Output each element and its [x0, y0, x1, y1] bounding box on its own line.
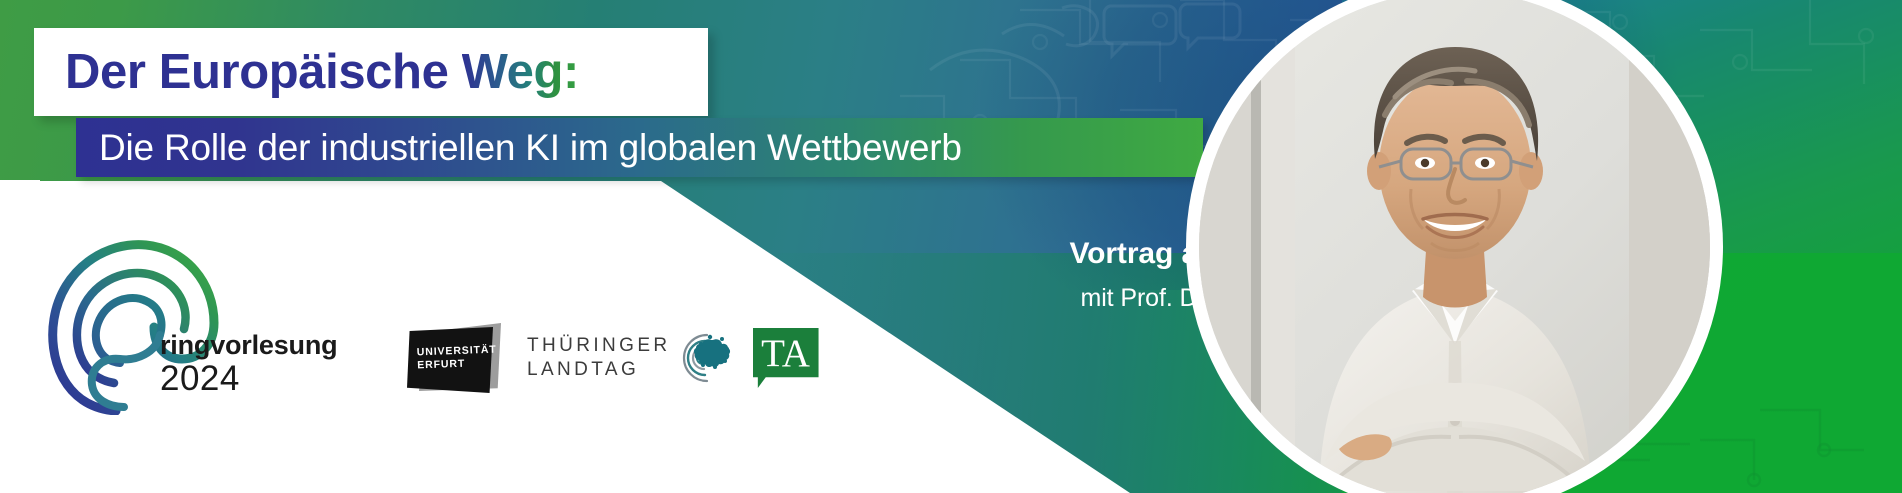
avatar: [1199, 0, 1710, 493]
series-year: 2024: [160, 361, 337, 396]
partner-logo-thueringer-landtag[interactable]: THÜRINGER LANDTAG: [527, 331, 731, 385]
landtag-line2: LANDTAG: [527, 358, 671, 382]
partner-logos: UNIVERSITÄT ERFURT THÜRINGER LANDTAG: [405, 318, 819, 398]
uni-erfurt-line2: ERFURT: [417, 357, 497, 373]
lion-emblem-icon: [677, 331, 731, 385]
series-name: ringvorlesung: [160, 332, 337, 359]
page-title: Der Europäische Weg:: [65, 48, 579, 97]
portrait-frame: [1186, 0, 1723, 493]
subtitle-text: Die Rolle der industriellen KI im global…: [99, 129, 962, 166]
landtag-line1: THÜRINGER: [527, 334, 671, 358]
landtag-wordmark: THÜRINGER LANDTAG: [527, 334, 671, 382]
uni-erfurt-wordmark: UNIVERSITÄT ERFURT: [417, 344, 498, 373]
series-logo-text: ringvorlesung 2024: [160, 332, 337, 396]
event-banner: Der Europäische Weg: Die Rolle der indus…: [0, 0, 1902, 493]
partner-logo-thueringer-allgemeine[interactable]: TA: [753, 328, 819, 388]
portrait-antonio-krueger: [1199, 0, 1710, 493]
title-part-one: Der Europäische: [65, 45, 462, 99]
ta-letters: TA: [753, 334, 819, 373]
title-box: Der Europäische Weg:: [34, 28, 708, 116]
title-part-two: Weg:: [462, 45, 579, 99]
partner-logo-uni-erfurt[interactable]: UNIVERSITÄT ERFURT: [405, 319, 505, 397]
subtitle-bar: Die Rolle der industriellen KI im global…: [76, 118, 1203, 177]
